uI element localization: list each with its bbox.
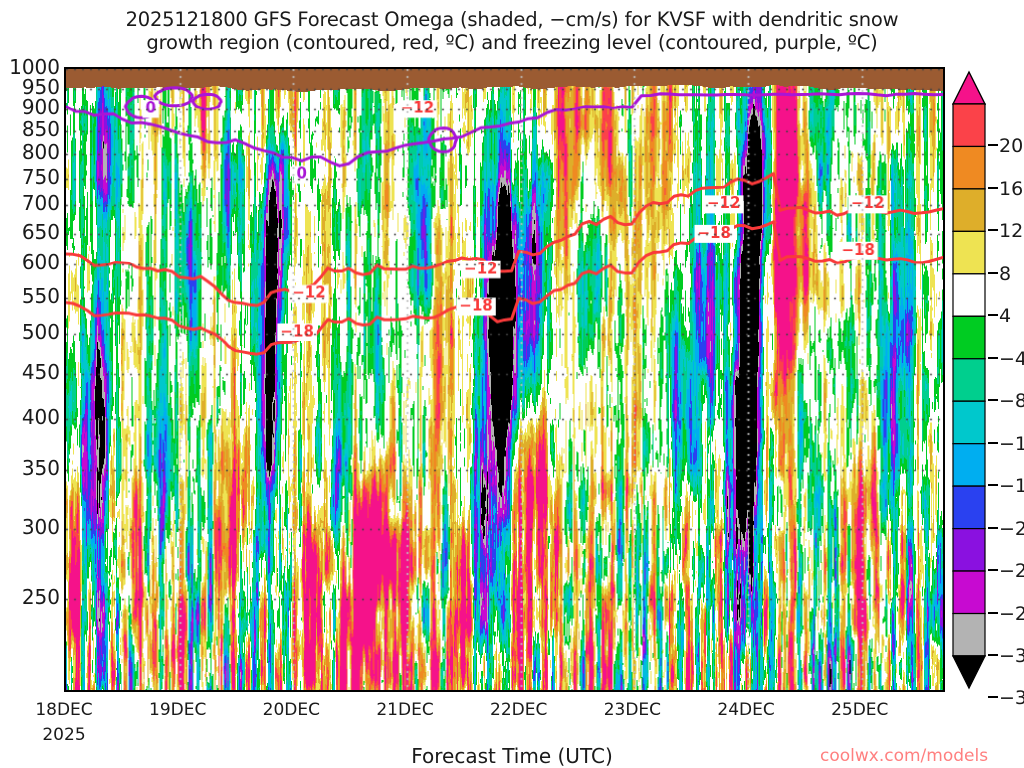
colorbar-tick-8: 8 [999,263,1011,285]
colorbar-labels: 20161284−4−8−12−16−20−24−28−32−36 [986,70,1024,690]
colorbar-tick-neg36: −36 [999,687,1024,709]
colorbar-tick-mark [988,187,998,189]
x-tick-22DEC: 22DEC [490,700,547,720]
colorbar-tick-neg8: −8 [999,390,1024,412]
colorbar-tick-mark [988,696,998,698]
colorbar-tick-16: 16 [999,178,1023,200]
y-tick-400: 400 [22,405,60,429]
y-tick-750: 750 [22,165,60,189]
y-tick-1000: 1000 [9,55,60,79]
y-tick-350: 350 [22,456,60,480]
y-tick-850: 850 [22,117,60,141]
colorbar-tick-neg16: −16 [999,475,1024,497]
x-tick-20DEC: 20DEC [263,700,320,720]
y-tick-550: 550 [22,284,60,308]
colorbar-tick-mark [988,272,998,274]
x-tick-25DEC: 25DEC [831,700,888,720]
y-tick-250: 250 [22,585,60,609]
colorbar-tick-mark [988,229,998,231]
page-title: 2025121800 GFS Forecast Omega (shaded, −… [0,8,1024,54]
colorbar-tick-4: 4 [999,305,1011,327]
y-tick-700: 700 [22,191,60,215]
y-tick-900: 900 [22,95,60,119]
omega-shaded-field [66,69,943,690]
colorbar [952,70,986,690]
colorbar-tick-mark [988,654,998,656]
colorbar-tick-neg32: −32 [999,645,1024,667]
colorbar-tick-mark [988,527,998,529]
colorbar-tick-12: 12 [999,220,1023,242]
colorbar-tick-mark [988,314,998,316]
colorbar-tick-neg24: −24 [999,560,1024,582]
colorbar-tick-mark [988,357,998,359]
colorbar-tick-mark [988,612,998,614]
x-tick-24DEC: 24DEC [717,700,774,720]
colorbar-tick-mark [988,399,998,401]
colorbar-tick-mark [988,144,998,146]
watermark-link[interactable]: coolwx.com/models [820,746,988,766]
y-tick-450: 450 [22,360,60,384]
colorbar-tick-mark [988,484,998,486]
plot-frame [64,67,945,692]
colorbar-tick-neg20: −20 [999,518,1024,540]
plot-area [64,67,945,692]
y-axis-labels: 2503003504004505005506006507007508008509… [0,0,60,768]
x-axis-year-label: 2025 [42,725,85,745]
colorbar-tick-mark [988,442,998,444]
x-tick-23DEC: 23DEC [604,700,661,720]
colorbar-tick-neg4: −4 [999,348,1024,370]
y-tick-300: 300 [22,515,60,539]
colorbar-tick-mark [988,569,998,571]
y-tick-800: 800 [22,140,60,164]
y-tick-500: 500 [22,320,60,344]
x-tick-19DEC: 19DEC [149,700,206,720]
x-tick-18DEC: 18DEC [35,700,92,720]
x-tick-21DEC: 21DEC [376,700,433,720]
colorbar-tick-20: 20 [999,135,1023,157]
colorbar-tick-neg12: −12 [999,433,1024,455]
x-axis-labels: 18DEC19DEC20DEC21DEC22DEC23DEC24DEC25DEC [0,700,1024,730]
y-tick-650: 650 [22,220,60,244]
colorbar-tick-neg28: −28 [999,603,1024,625]
y-tick-600: 600 [22,250,60,274]
